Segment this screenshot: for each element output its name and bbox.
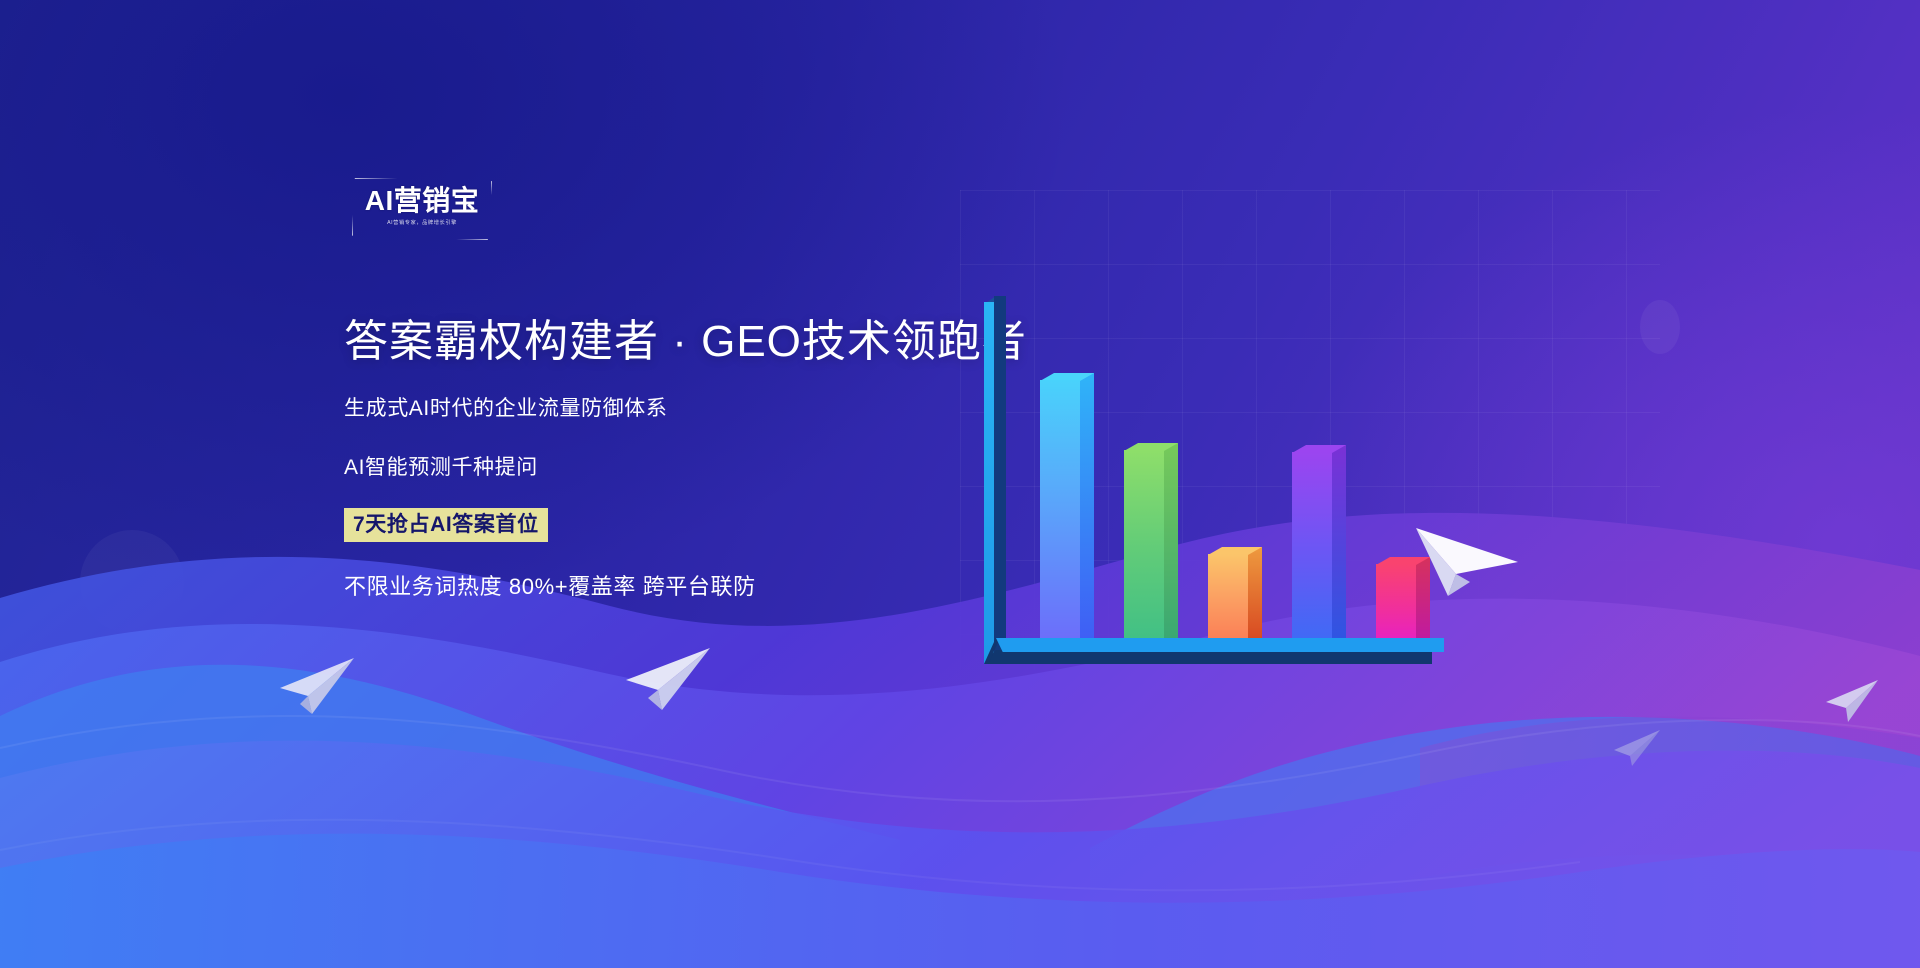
highlight-badge: 7天抢占AI答案首位 xyxy=(344,508,548,542)
y-axis-side xyxy=(994,296,1006,658)
chart-bar-1-front xyxy=(1040,380,1080,646)
chart-bar-3-side xyxy=(1248,547,1262,639)
decor-blob-3 xyxy=(1640,300,1680,354)
chart-y-axis xyxy=(984,296,1006,664)
chart-bar-2 xyxy=(1124,450,1164,646)
chart-bar-1 xyxy=(1040,380,1080,646)
chart-bar-4-side xyxy=(1332,445,1346,639)
subtitle-line-1: 生成式AI时代的企业流量防御体系 xyxy=(344,392,1004,422)
bar-chart-illustration xyxy=(984,296,1444,664)
subtitle-line-2: AI智能预测千种提问 xyxy=(344,451,1004,481)
chart-bar-2-side xyxy=(1164,443,1178,639)
chart-bar-3-front xyxy=(1208,554,1248,646)
chart-bar-3 xyxy=(1208,554,1248,646)
chart-base-plate xyxy=(984,634,1444,664)
chart-bar-4 xyxy=(1292,452,1332,646)
hero-banner: AI营销宝 AI营销专家，品牌增长引擎 答案霸权构建者 · GEO技术领跑者 生… xyxy=(0,0,1920,968)
logo[interactable]: AI营销宝 AI营销专家，品牌增长引擎 xyxy=(352,178,492,240)
highlight-wrapper: 7天抢占AI答案首位 xyxy=(344,508,1004,542)
chart-bar-5-side xyxy=(1416,557,1430,639)
logo-wordmark: AI营销宝 xyxy=(348,187,496,215)
logo-tagline: AI营销专家，品牌增长引擎 xyxy=(356,218,489,226)
chart-base-top xyxy=(996,638,1444,652)
y-axis-face xyxy=(984,302,994,664)
chart-base-front xyxy=(984,650,1432,664)
chart-bar-4-front xyxy=(1292,452,1332,646)
page-title: 答案霸权构建者 · GEO技术领跑者 xyxy=(344,318,1004,366)
hero-copy: 答案霸权构建者 · GEO技术领跑者 生成式AI时代的企业流量防御体系 AI智能… xyxy=(344,318,1004,601)
subtitle-line-3: 不限业务词热度 80%+覆盖率 跨平台联防 xyxy=(344,569,1004,601)
chart-bar-2-front xyxy=(1124,450,1164,646)
chart-bar-1-side xyxy=(1080,373,1094,639)
